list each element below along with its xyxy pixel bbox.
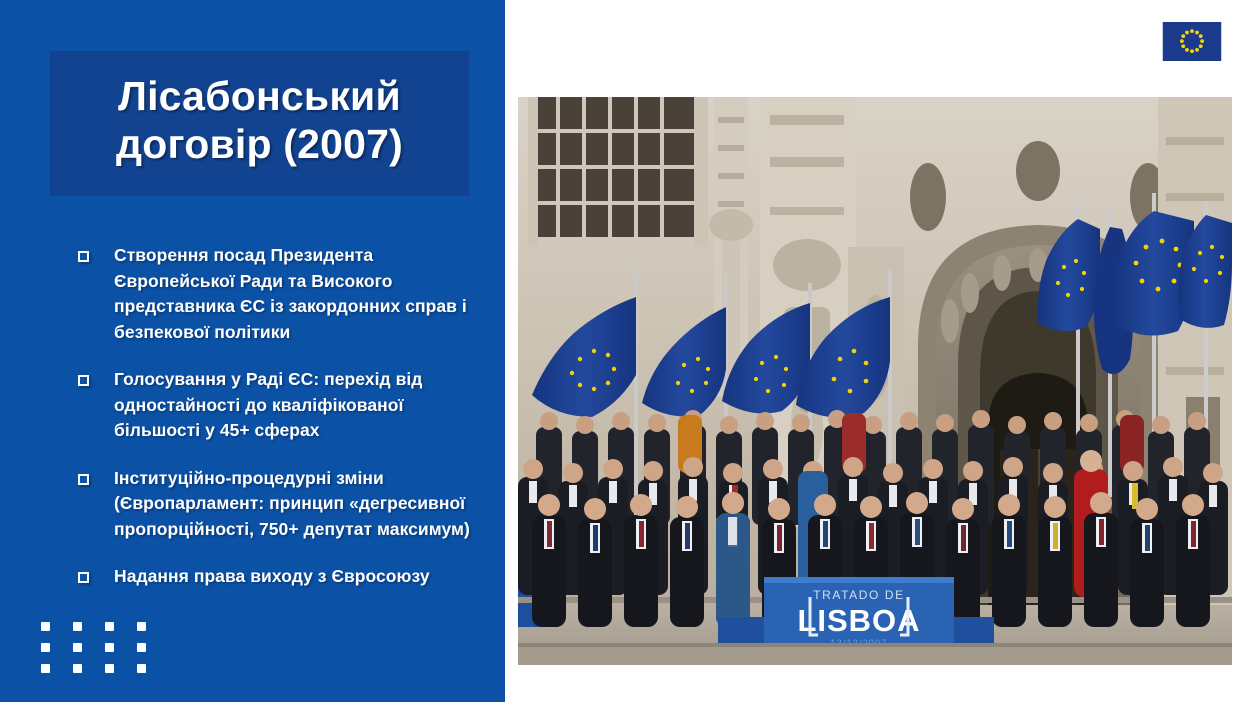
checkbox-square-icon	[78, 367, 114, 393]
list-item-label: Надання права виходу з Євросоюзу	[114, 564, 478, 590]
dot	[137, 664, 146, 673]
list-item-label: Голосування у Раді ЄС: перехід від однос…	[114, 367, 478, 444]
dot	[105, 664, 114, 673]
dot	[105, 622, 114, 631]
checkbox-square-icon	[78, 466, 114, 492]
eu-flag-icon	[1157, 20, 1227, 63]
slide-canvas: Лісабонський договір (2007) Створення по…	[0, 0, 1250, 702]
list-item-label: Інституційно-процедурні зміни (Європарла…	[114, 466, 478, 543]
checkbox-square-icon	[78, 564, 114, 590]
title-line-1: Лісабонський	[118, 73, 401, 119]
dot	[73, 664, 82, 673]
dot	[41, 622, 50, 631]
title-line-2: договір (2007)	[116, 121, 403, 167]
lisbon-treaty-signing-photo: TRATADO DE LISBOA 13/12/2007	[518, 97, 1232, 665]
list-item: Інституційно-процедурні зміни (Європарла…	[78, 466, 478, 543]
list-item: Голосування у Раді ЄС: перехід від однос…	[78, 367, 478, 444]
list-item: Надання права виходу з Євросоюзу	[78, 564, 478, 590]
checkbox-square-icon	[78, 243, 114, 269]
decorative-dot-grid	[41, 622, 169, 685]
bullet-list: Створення посад Президента Європейської …	[78, 243, 478, 590]
dot	[41, 643, 50, 652]
svg-text:TRATADO DE: TRATADO DE	[813, 588, 905, 602]
left-content-panel: Лісабонський договір (2007) Створення по…	[0, 0, 505, 702]
dot	[137, 622, 146, 631]
page-title: Лісабонський договір (2007)	[116, 73, 403, 167]
list-item: Створення посад Президента Європейської …	[78, 243, 478, 345]
dot	[73, 643, 82, 652]
dot	[73, 622, 82, 631]
list-item-label: Створення посад Президента Європейської …	[114, 243, 478, 345]
title-box: Лісабонський договір (2007)	[50, 51, 469, 196]
svg-text:LISBOA: LISBOA	[797, 603, 920, 638]
dot	[41, 664, 50, 673]
dot	[137, 643, 146, 652]
dot	[105, 643, 114, 652]
